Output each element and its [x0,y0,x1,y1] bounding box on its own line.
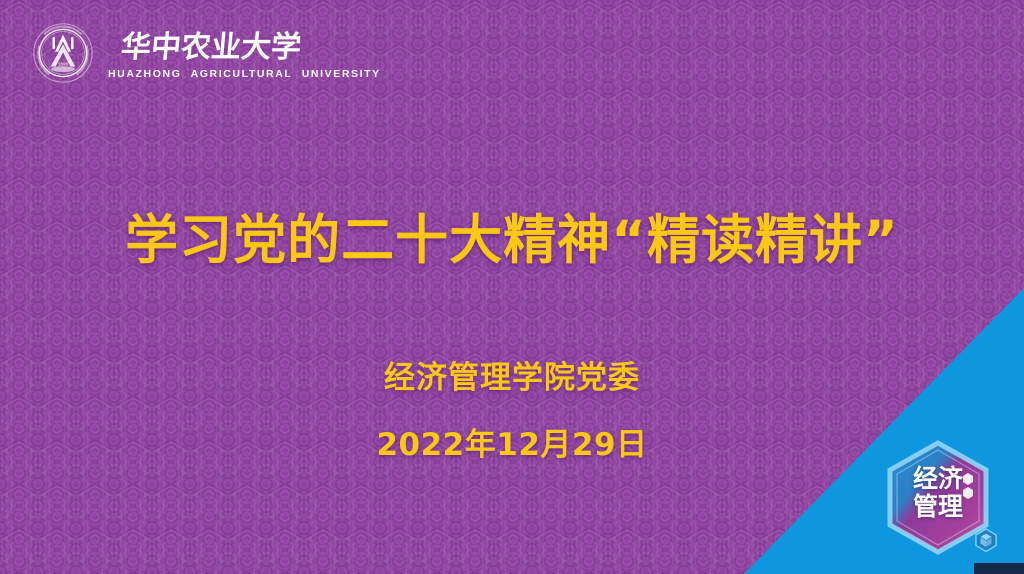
presentation-slide: 1898 华中农业大学 HUAZHONG AGRICULTURAL UNIVER… [0,0,1024,574]
college-badge-label: 经济 管理 [880,465,996,521]
svg-text:1898: 1898 [58,61,69,66]
university-seal-icon: 1898 [32,22,94,84]
slide-subtitle: 经济管理学院党委 2022年12月29日 [0,352,1024,464]
college-badge-line1: 经济 [880,465,996,493]
bottom-right-navy-strip [974,563,1024,574]
university-logo: 1898 华中农业大学 HUAZHONG AGRICULTURAL UNIVER… [32,22,381,84]
university-name-en: HUAZHONG AGRICULTURAL UNIVERSITY [108,68,381,80]
subtitle-date: 2022年12月29日 [0,419,1024,464]
slide-title: 学习党的二十大精神“精读精讲” [0,198,1024,274]
university-name-cn: 华中农业大学 [108,26,318,66]
cube-icon [975,528,997,552]
subtitle-organization: 经济管理学院党委 [0,352,1024,397]
college-badge-line2: 管理 [880,493,996,521]
university-name-cn-text: 华中农业大学 [120,30,303,65]
